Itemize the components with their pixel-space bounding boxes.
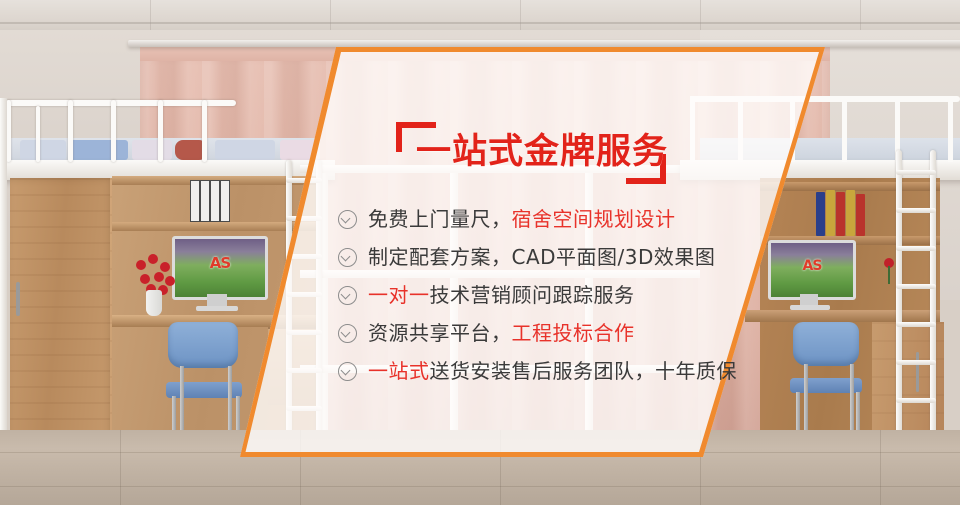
chevron-down-circle-icon [338, 362, 357, 381]
feature-highlight: 一对一 [368, 283, 430, 307]
feature-text: 资源共享平台，工程投标合作 [368, 320, 635, 346]
feature-plain-prefix: 免费上门量尺， [368, 207, 512, 231]
feature-highlight: 工程投标合作 [512, 321, 635, 345]
list-item: 制定配套方案，CAD平面图/3D效果图 [338, 238, 758, 275]
chevron-down-circle-icon [338, 286, 357, 305]
page-title: 一站式金牌服务 [416, 130, 668, 174]
list-item: 资源共享平台，工程投标合作 [338, 314, 758, 351]
feature-text: 一对一技术营销顾问跟踪服务 [368, 282, 635, 308]
banner-content: 一站式金牌服务 免费上门量尺，宿舍空间规划设计 制定配套方案，CAD平面图/3D… [0, 0, 960, 505]
list-item: 一站式送货安装售后服务团队，十年质保 [338, 352, 758, 389]
bracket-top-left-vertical [396, 122, 402, 152]
feature-text: 免费上门量尺，宿舍空间规划设计 [368, 206, 676, 232]
feature-text: 制定配套方案，CAD平面图/3D效果图 [368, 244, 715, 270]
title-block: 一站式金牌服务 [396, 122, 666, 184]
banner-stage: AS [0, 0, 960, 505]
feature-plain-prefix: 制定配套方案，CAD平面图/3D效果图 [368, 245, 715, 269]
feature-plain-suffix: 技术营销顾问跟踪服务 [430, 283, 635, 307]
list-item: 一对一技术营销顾问跟踪服务 [338, 276, 758, 313]
feature-highlight: 宿舍空间规划设计 [512, 207, 676, 231]
list-item: 免费上门量尺，宿舍空间规划设计 [338, 200, 758, 237]
feature-highlight: 一站式 [368, 359, 430, 383]
chevron-down-circle-icon [338, 324, 357, 343]
feature-plain-prefix: 资源共享平台， [368, 321, 512, 345]
chevron-down-circle-icon [338, 248, 357, 267]
feature-list: 免费上门量尺，宿舍空间规划设计 制定配套方案，CAD平面图/3D效果图 一对一技… [338, 200, 758, 390]
feature-plain-suffix: 送货安装售后服务团队，十年质保 [430, 359, 738, 383]
chevron-down-circle-icon [338, 210, 357, 229]
bracket-top-left-horizontal [396, 122, 436, 128]
feature-text: 一站式送货安装售后服务团队，十年质保 [368, 358, 737, 384]
